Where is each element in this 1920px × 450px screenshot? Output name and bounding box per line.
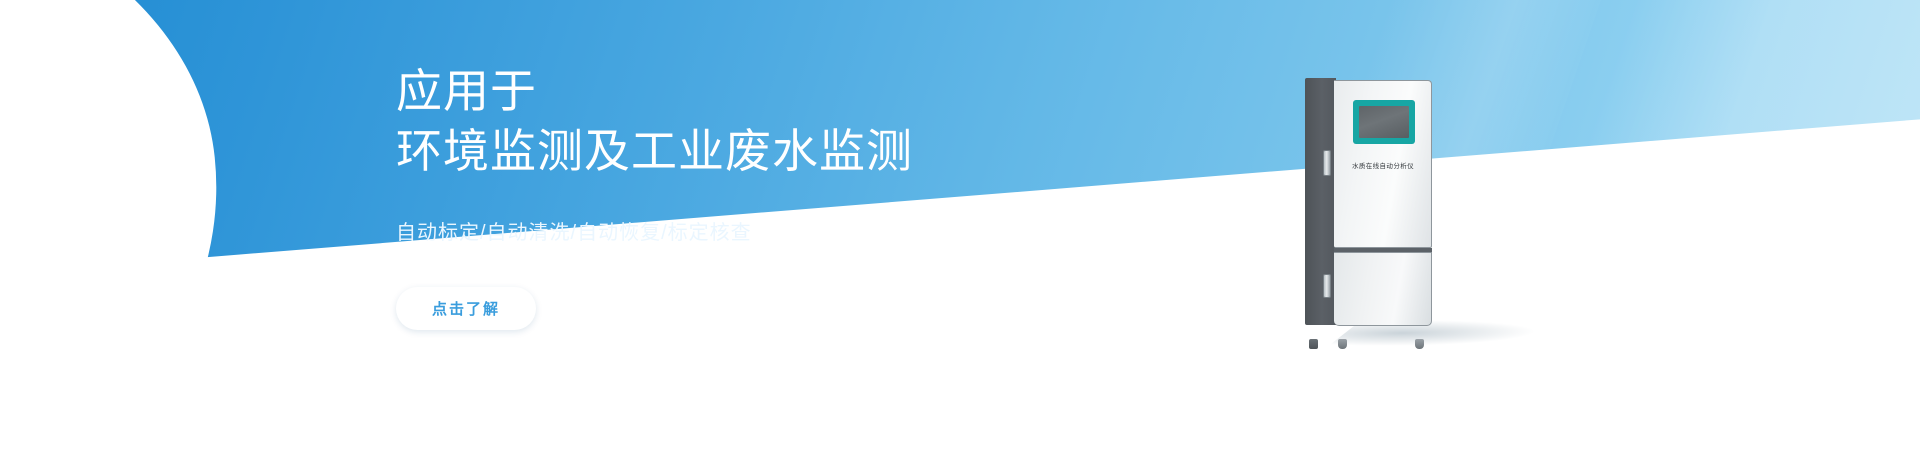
device-panel-label: 水质在线自动分析仪 [1334,160,1432,170]
device-display-screen [1359,106,1409,138]
hero-copy-block: 应用于 环境监测及工业废水监测 自动标定/自动清洗/自动恢复/标定核查 点击了解 [396,62,1156,330]
device-side-foot [1309,339,1318,349]
learn-more-button[interactable]: 点击了解 [396,287,536,330]
device-lower-door-handle [1323,274,1331,298]
product-device-illustration: 水质在线自动分析仪 [1305,78,1440,340]
hero-headline-line-1: 应用于 [396,62,1156,122]
device-caster-right [1415,339,1424,349]
hero-headline-line-2: 环境监测及工业废水监测 [396,122,1156,182]
hero-subheadline: 自动标定/自动清洗/自动恢复/标定核查 [396,216,1156,245]
hero-banner: 应用于 环境监测及工业废水监测 自动标定/自动清洗/自动恢复/标定核查 点击了解… [0,0,1920,450]
device-side-panel [1305,78,1336,325]
device-upper-door-handle [1323,150,1331,176]
device-lower-cabinet [1334,252,1432,326]
device-display-bezel [1353,100,1415,144]
device-caster-left [1338,339,1347,349]
